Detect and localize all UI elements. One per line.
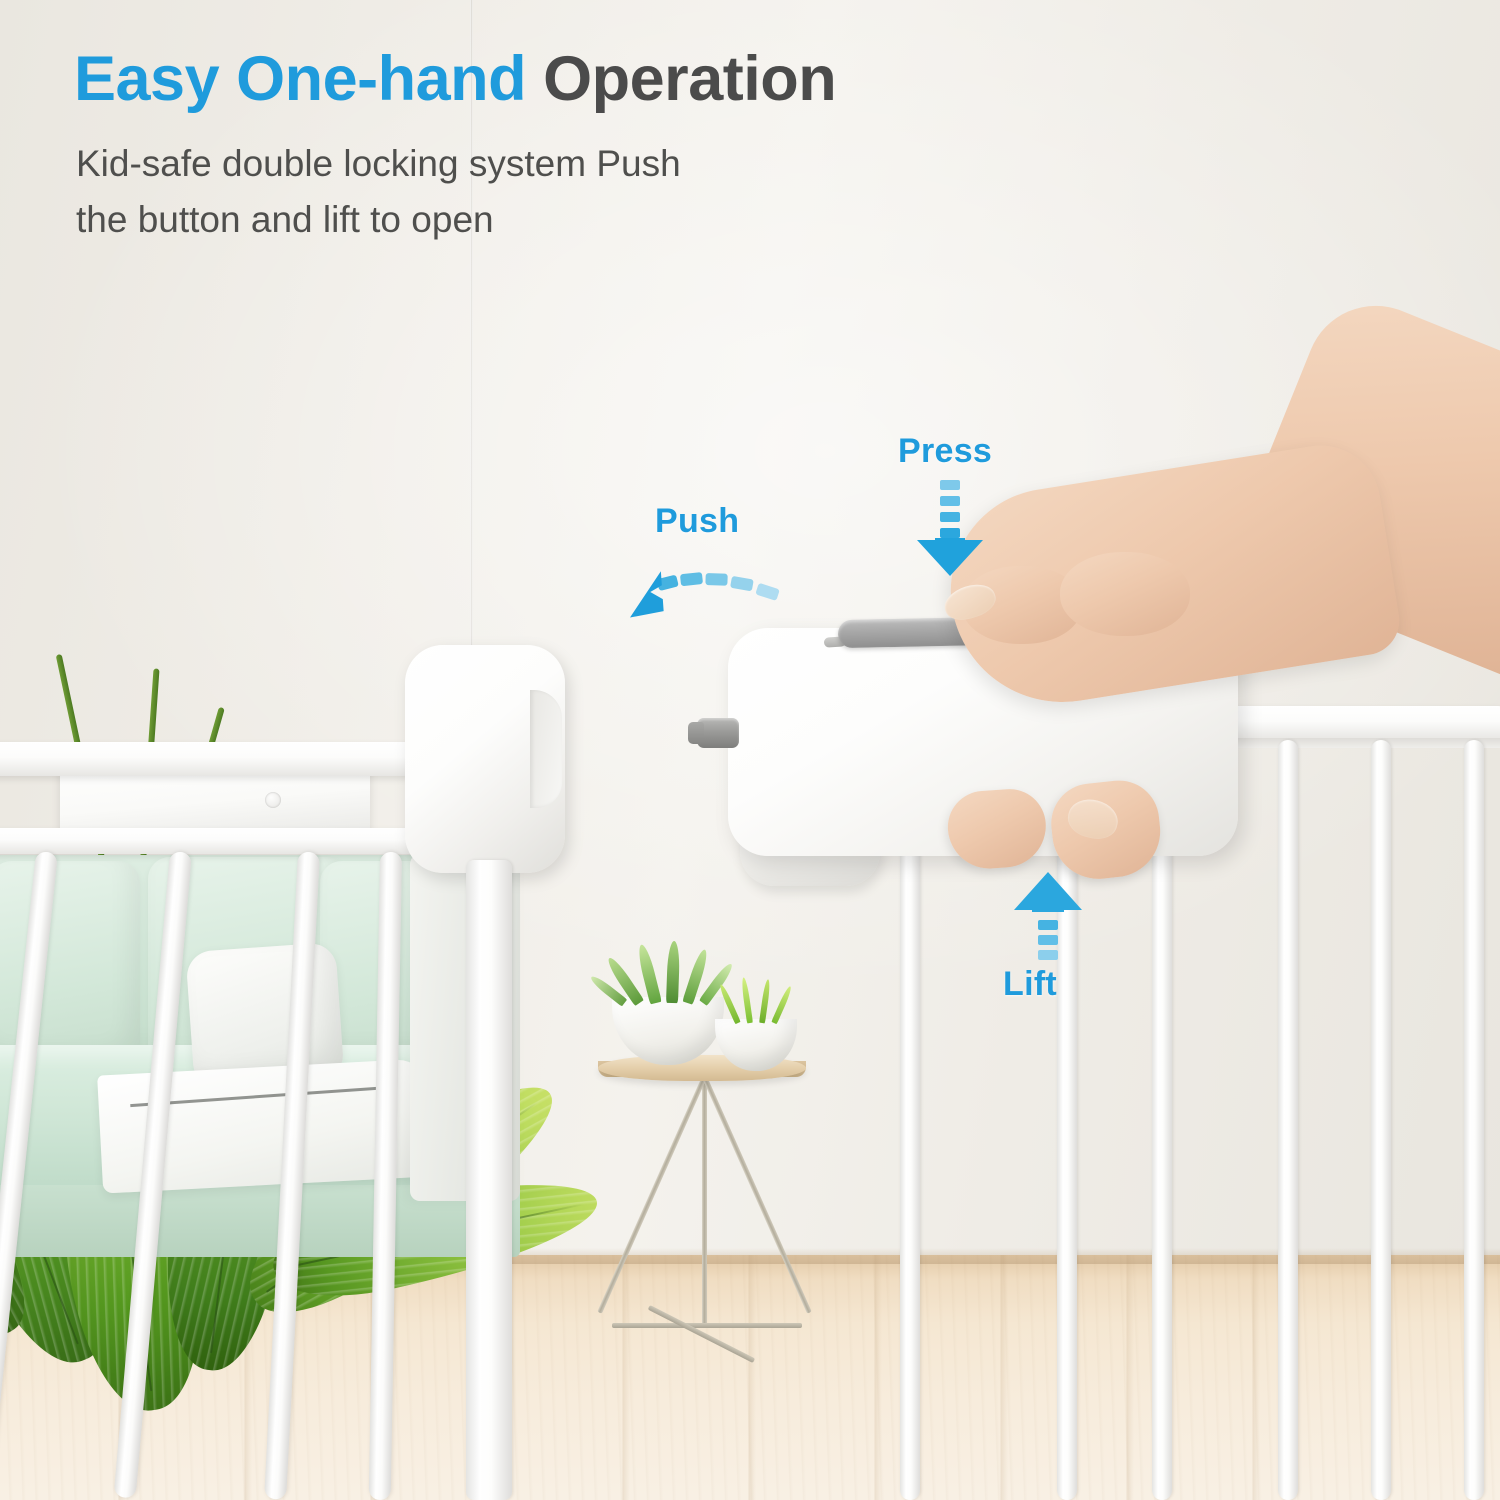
- dashed-arrow-down-icon: [905, 478, 995, 578]
- gate-hinge-post: [466, 860, 512, 1500]
- gate-vertical-bar: [1152, 800, 1172, 1500]
- grass-blade: [759, 979, 771, 1023]
- round-side-table: [590, 925, 820, 1345]
- mint-green-sofa: [0, 855, 540, 1275]
- product-marketing-image: Press Push Lift Easy One-hand Operation …: [0, 0, 1500, 1500]
- gate-top-rail: [1218, 706, 1500, 740]
- page-subtitle: Kid-safe double locking system Push the …: [76, 136, 956, 248]
- gate-top-rail-shadow: [1218, 738, 1500, 748]
- headline-gray-part: Operation: [543, 44, 836, 114]
- gate-vertical-bar: [1464, 740, 1484, 1500]
- latch-pin-tip: [688, 722, 704, 744]
- page-title: Easy One-hand Operation: [74, 46, 836, 112]
- knuckle: [1060, 552, 1190, 636]
- gate-vertical-bar: [1371, 740, 1391, 1500]
- gate-vertical-bar: [1278, 740, 1298, 1500]
- gate-vertical-bar: [900, 812, 920, 1500]
- subtitle-line-2: the button and lift to open: [76, 192, 956, 248]
- table-leg: [597, 1076, 707, 1314]
- gate-left-top-rail: [0, 742, 420, 776]
- curved-dashed-arrow-left-icon: [628, 552, 788, 620]
- large-plant-foliage: [614, 937, 726, 1003]
- table-leg: [702, 1076, 812, 1314]
- bracket-screw-icon: [265, 792, 281, 808]
- table-leg: [702, 1077, 707, 1327]
- grass-blade: [741, 977, 753, 1023]
- annotation-label-press: Press: [898, 432, 992, 471]
- table-foot-frame: [612, 1323, 802, 1328]
- headline-blue-part: Easy One-hand: [74, 44, 526, 114]
- annotation-label-push: Push: [655, 502, 739, 541]
- grass-blade: [771, 985, 793, 1024]
- small-plant-grass: [724, 979, 790, 1023]
- gate-left-lower-rail: [0, 828, 420, 854]
- annotation-label-lift: Lift: [1003, 965, 1057, 1004]
- leaf: [666, 941, 680, 1003]
- subtitle-line-1: Kid-safe double locking system Push: [76, 136, 956, 192]
- dashed-arrow-up-icon: [1008, 872, 1088, 964]
- gate-hinge-notch: [530, 690, 562, 808]
